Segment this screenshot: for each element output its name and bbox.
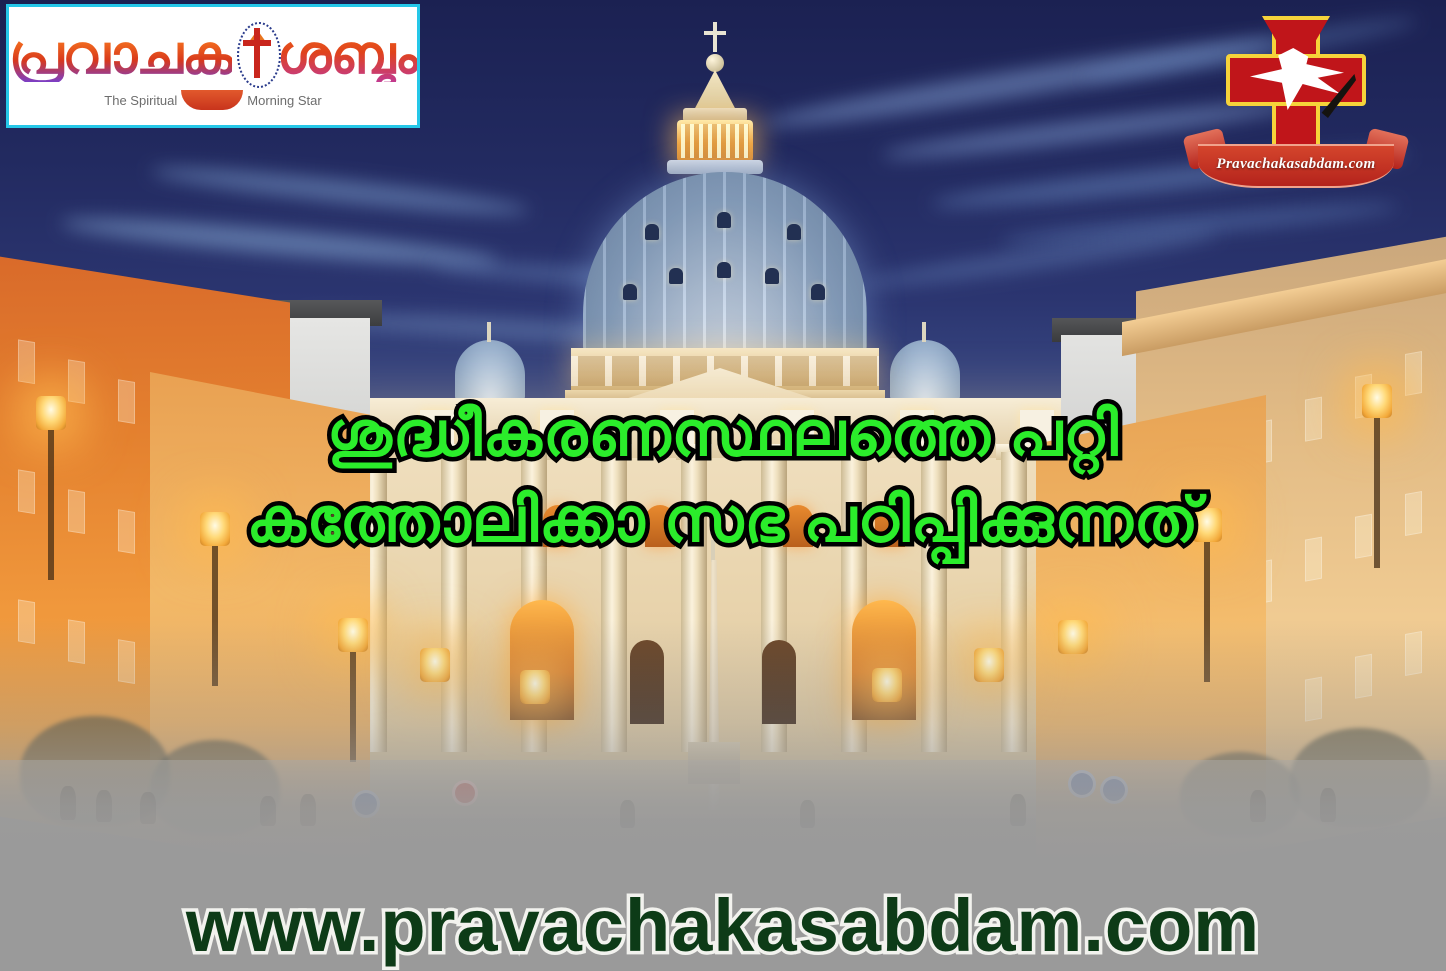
dome-window [811, 284, 825, 300]
dome-window [787, 224, 801, 240]
window [18, 339, 35, 384]
emblem-banner: Pravachakasabdam.com [1186, 126, 1406, 194]
cloud-wisp [1000, 198, 1400, 251]
site-emblem[interactable]: Pravachakasabdam.com [1186, 14, 1406, 194]
footer-bar: www.pravachakasabdam.com [0, 880, 1446, 971]
headline-line-2: കത്തോലിക്കാ സഭ പഠിപ്പിക്കുന്നത് [0, 478, 1446, 564]
logo-cross-emblem-icon [234, 20, 275, 90]
dome-lantern [677, 120, 753, 162]
headline-line-1: ശുദ്ധീകരണസ്ഥലത്തെ പറ്റി [0, 392, 1446, 478]
dome-window [717, 262, 731, 278]
dome-cross-icon [713, 22, 717, 52]
footer-website-url[interactable]: www.pravachakasabdam.com [186, 883, 1260, 968]
poster: പ്രവാചക ശബ്ദം The Spiritual Morning Star [0, 0, 1446, 971]
dome-window [645, 224, 659, 240]
side-dome-left [455, 340, 525, 400]
emblem-cross-vertical [254, 28, 260, 78]
dome-spire [693, 70, 737, 112]
banner-text: Pravachakasabdam.com [1186, 156, 1406, 173]
dome-shell [583, 172, 867, 362]
tagline-right: Morning Star [247, 93, 321, 108]
window [1405, 351, 1422, 396]
dome-window [717, 212, 731, 228]
side-dome-right [890, 340, 960, 400]
dome-window [765, 268, 779, 284]
basilica-dome [565, 22, 885, 422]
cloud-wisp [150, 160, 530, 222]
brand-logo-box[interactable]: പ്രവാചക ശബ്ദം The Spiritual Morning Star [6, 4, 420, 128]
bottom-fade-overlay [0, 620, 1446, 880]
dome-window [669, 268, 683, 284]
brand-title-right: ശബ്ദം [277, 28, 417, 82]
emblem-cross-horizontal [243, 40, 271, 46]
headline: ശുദ്ധീകരണസ്ഥലത്തെ പറ്റി കത്തോലിക്കാ സഭ പ… [0, 392, 1446, 563]
brand-title-left: പ്രവാചക [9, 28, 232, 82]
dome-window [623, 284, 637, 300]
tagline-ribbon-icon [181, 90, 243, 110]
dome-orb [706, 54, 724, 72]
tagline-left: The Spiritual [104, 93, 177, 108]
brand-logo-title: പ്രവാചക ശബ്ദം [9, 19, 417, 91]
